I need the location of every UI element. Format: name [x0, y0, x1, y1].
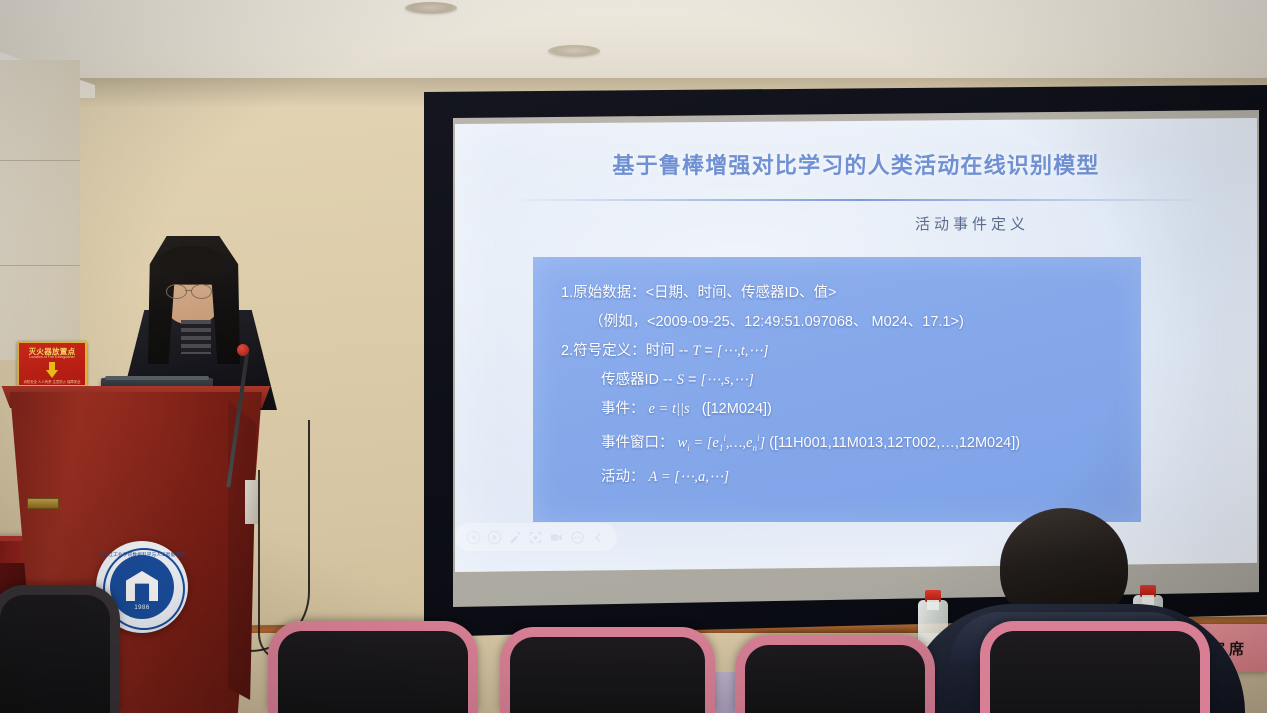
- back-chevron-icon[interactable]: [590, 529, 606, 545]
- fire-sign-footer: 消防安全 人人有责 注意防火 保障安全: [19, 379, 85, 384]
- downlight-icon: [405, 2, 457, 14]
- next-arrow-icon[interactable]: [486, 529, 502, 545]
- slide-line-2: （例如，<2009-09-25、12:49:51.097068、 M024、17…: [561, 308, 1131, 337]
- presenter-toolbar[interactable]: [455, 523, 617, 551]
- slide-title: 基于鲁棒增强对比学习的人类活动在线识别模型: [455, 148, 1257, 180]
- striped-shirt: [181, 320, 211, 354]
- presenter-fringe: [159, 246, 225, 276]
- microphone-head: [237, 344, 249, 356]
- wall-panel-left: [0, 60, 80, 360]
- chair: [500, 627, 715, 713]
- slide-content-box: 1.原始数据：<日期、时间、传感器ID、值> （例如，<2009-09-25、1…: [533, 257, 1141, 522]
- conference-room-photo: 灭火器放置点 Location of Fire Extinguisher 消防安…: [0, 0, 1267, 713]
- down-arrow-icon: [46, 362, 58, 378]
- more-options-icon[interactable]: [570, 529, 586, 545]
- fire-sign-subtitle: Location of Fire Extinguisher: [19, 355, 85, 359]
- chair: [268, 621, 478, 713]
- chair: [0, 585, 120, 713]
- slide-line-4: 传感器ID -- S = [⋯,s,⋯]: [561, 366, 1131, 395]
- slide-line-5: 事件： e = t||s ([12M024]): [561, 395, 1131, 424]
- previous-arrow-icon[interactable]: [465, 529, 481, 545]
- subtitle-camera-icon[interactable]: [549, 529, 565, 545]
- downlight-icon: [548, 45, 600, 57]
- fire-extinguisher-sign: 灭火器放置点 Location of Fire Extinguisher 消防安…: [17, 341, 87, 387]
- slide-line-6: 事件窗口： wi = [e1i,…,eni] ([11H001,11M013,1…: [561, 424, 1131, 463]
- podium-brass-plate: [27, 498, 59, 509]
- glasses-icon: [191, 284, 212, 299]
- slide-line-7: 活动： A = [⋯,a,⋯]: [561, 463, 1131, 492]
- slide-subtitle: 活动事件定义: [915, 213, 1029, 234]
- slide-line-1: 1.原始数据：<日期、时间、传感器ID、值>: [561, 279, 1131, 308]
- projected-slide: 基于鲁棒增强对比学习的人类活动在线识别模型 活动事件定义 1.原始数据：<日期、…: [455, 118, 1257, 572]
- chair: [735, 635, 935, 713]
- zoom-target-icon[interactable]: [528, 529, 544, 545]
- glasses-icon: [166, 284, 187, 299]
- glasses-bridge: [185, 290, 192, 291]
- title-divider: [510, 199, 1210, 201]
- pen-icon[interactable]: [507, 529, 523, 545]
- chair: [980, 621, 1210, 713]
- slide-line-3: 2.符号定义：时间 -- T = [⋯,t,⋯]: [561, 337, 1131, 366]
- slide-body-lines: 1.原始数据：<日期、时间、传感器ID、值> （例如，<2009-09-25、1…: [561, 279, 1131, 492]
